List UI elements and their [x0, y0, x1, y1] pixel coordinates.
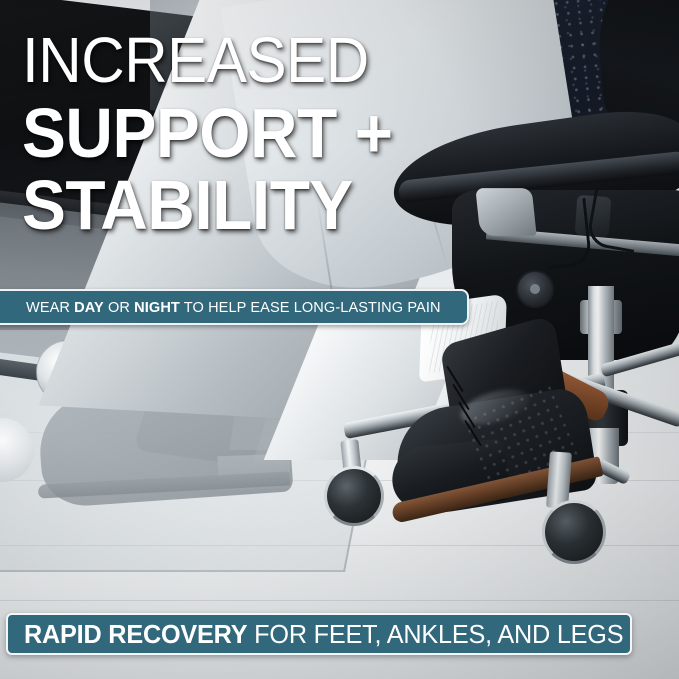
headline-line-2: SUPPORT +: [22, 94, 624, 172]
subtitle-text: WEAR DAY OR NIGHT TO HELP EASE LONG-LAST…: [26, 299, 441, 316]
subtitle-bold-night: NIGHT: [134, 299, 180, 316]
subtitle-bold-day: DAY: [74, 299, 104, 316]
floor-plank-line: [0, 600, 679, 601]
headline-line-1: INCREASED: [22, 26, 624, 94]
subtitle-banner: WEAR DAY OR NIGHT TO HELP EASE LONG-LAST…: [0, 289, 469, 325]
bottom-banner: RAPID RECOVERY FOR FEET, ANKLES, AND LEG…: [6, 613, 632, 655]
headline-line-3: STABILITY: [22, 166, 624, 244]
product-ad-image: INCREASED SUPPORT + STABILITY WEAR DAY O…: [0, 0, 679, 679]
caster-wheel: [324, 466, 384, 526]
caster-wheel: [542, 500, 606, 564]
subtitle-middle: OR: [104, 299, 134, 316]
chair-tension-knob: [516, 270, 554, 308]
bottom-banner-rest: FOR FEET, ANKLES, AND LEGS: [247, 619, 623, 649]
subtitle-prefix: WEAR: [26, 299, 74, 316]
bottom-banner-bold: RAPID RECOVERY: [24, 619, 247, 649]
subtitle-suffix: TO HELP EASE LONG-LASTING PAIN: [180, 299, 441, 316]
headline-block: INCREASED SUPPORT + STABILITY: [22, 26, 662, 244]
bottom-banner-text: RAPID RECOVERY FOR FEET, ANKLES, AND LEG…: [24, 619, 623, 650]
